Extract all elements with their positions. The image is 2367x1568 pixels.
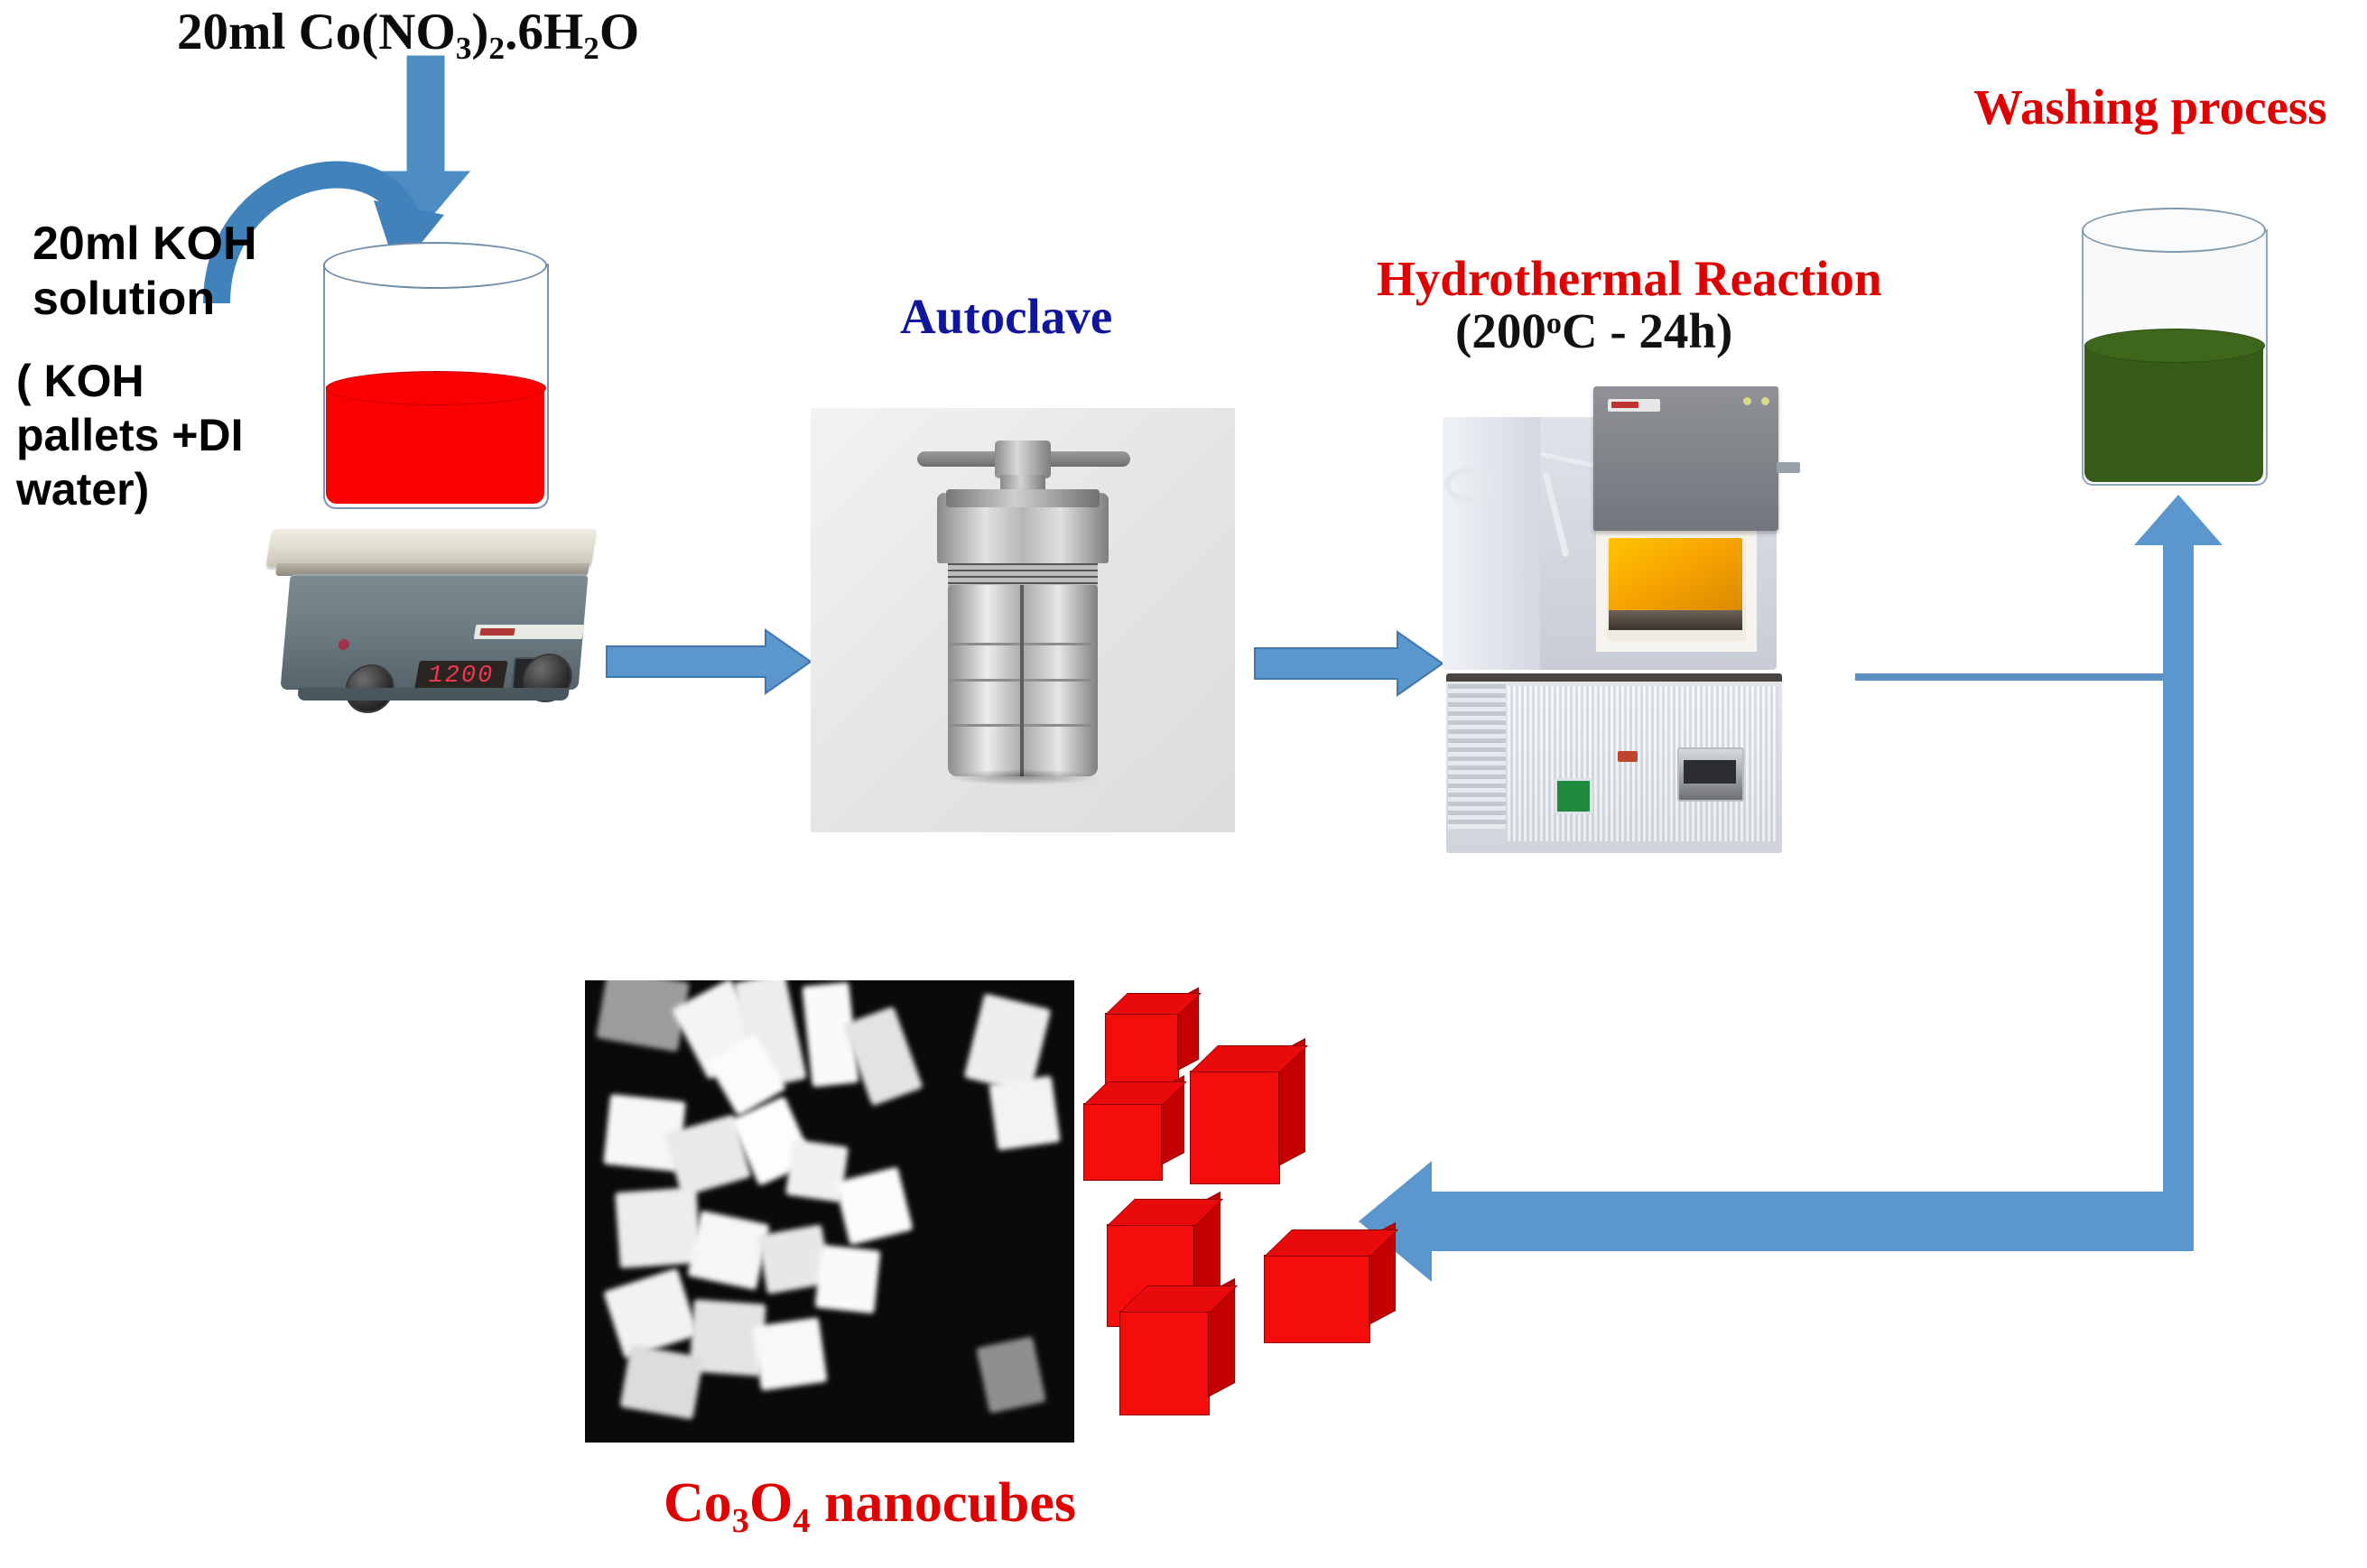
beaker-rim xyxy=(323,242,547,289)
koh-detail-line2: pallets +DI xyxy=(16,408,244,462)
nanocube-illustration xyxy=(1264,1255,1369,1341)
stirrer-base-foot xyxy=(297,688,569,700)
koh-label: 20ml KOH solution xyxy=(32,217,257,328)
stirrer-to-autoclave-arrow xyxy=(607,630,811,693)
furnace-led-1 xyxy=(1743,397,1751,405)
furnace-vent-grille xyxy=(1448,684,1506,829)
sem-micrograph xyxy=(585,980,1074,1443)
autoclave-thread xyxy=(948,563,1098,587)
product-label: Co3O4 nanocubes xyxy=(664,1474,1076,1533)
process-diagram: 20ml Co(NO3)2.6H2O 20ml KOH solution ( K… xyxy=(0,0,2367,1568)
furnace-side-panel xyxy=(1443,417,1540,670)
furnace-side-ring xyxy=(1444,468,1493,502)
koh-detail-label: ( KOH pallets +DI water) xyxy=(16,354,244,516)
furnace-brand-badge xyxy=(1608,399,1660,412)
furnace-status-indicator xyxy=(1618,751,1638,762)
nanocube-illustration xyxy=(1119,1311,1208,1414)
furnace-glow xyxy=(1609,538,1742,616)
furnace-led-2 xyxy=(1761,397,1769,405)
washing-to-product-arrow xyxy=(1359,1161,2194,1282)
stirrer-brand-badge xyxy=(474,625,585,639)
precursor-down-arrow xyxy=(382,56,469,224)
nanocube-illustration xyxy=(1083,1103,1161,1179)
autoclave-shadow xyxy=(946,769,1100,785)
reaction-beaker xyxy=(323,242,547,529)
washing-beaker-liquid-surface xyxy=(2084,329,2265,363)
washing-beaker-liquid-body xyxy=(2084,345,2263,482)
hydrothermal-condition-label: (200oC - 24h) xyxy=(1455,305,1732,357)
koh-label-line2: solution xyxy=(32,272,257,327)
hotplate-stirrer: 1200 xyxy=(249,529,616,710)
hydrothermal-reaction-label: Hydrothermal Reaction xyxy=(1377,253,1882,305)
stirrer-hotplate-surface xyxy=(266,529,598,567)
koh-detail-line3: water) xyxy=(16,462,244,516)
beaker-liquid-surface xyxy=(326,371,546,405)
washing-beaker xyxy=(2082,208,2266,511)
washing-process-label: Washing process xyxy=(1973,81,2327,134)
koh-label-line1: 20ml KOH xyxy=(32,217,257,272)
nanocube-illustration xyxy=(1105,1013,1177,1083)
stirrer-power-indicator xyxy=(338,639,349,650)
stirrer-display-value: 1200 xyxy=(426,664,497,689)
stirrer-body: 1200 xyxy=(280,574,588,690)
stirrer-display: 1200 xyxy=(414,661,508,691)
autoclave-collar xyxy=(946,489,1100,507)
muffle-furnace-image xyxy=(1390,370,1824,886)
furnace-door[interactable] xyxy=(1593,386,1778,531)
nanocube-illustration xyxy=(1190,1071,1278,1183)
autoclave-handle-hub xyxy=(995,441,1051,478)
washing-up-arrow xyxy=(2134,495,2223,1228)
autoclave-image xyxy=(811,408,1235,832)
furnace-controller-display[interactable] xyxy=(1677,747,1744,802)
furnace-hinge xyxy=(1777,462,1800,473)
autoclave-center-seam xyxy=(1020,585,1024,776)
precursor-label: 20ml Co(NO3)2.6H2O xyxy=(177,5,639,60)
koh-detail-line1: ( KOH xyxy=(16,354,244,408)
washing-beaker-rim xyxy=(2082,208,2266,253)
autoclave-label: Autoclave xyxy=(900,291,1112,343)
furnace-power-button[interactable] xyxy=(1555,778,1592,814)
